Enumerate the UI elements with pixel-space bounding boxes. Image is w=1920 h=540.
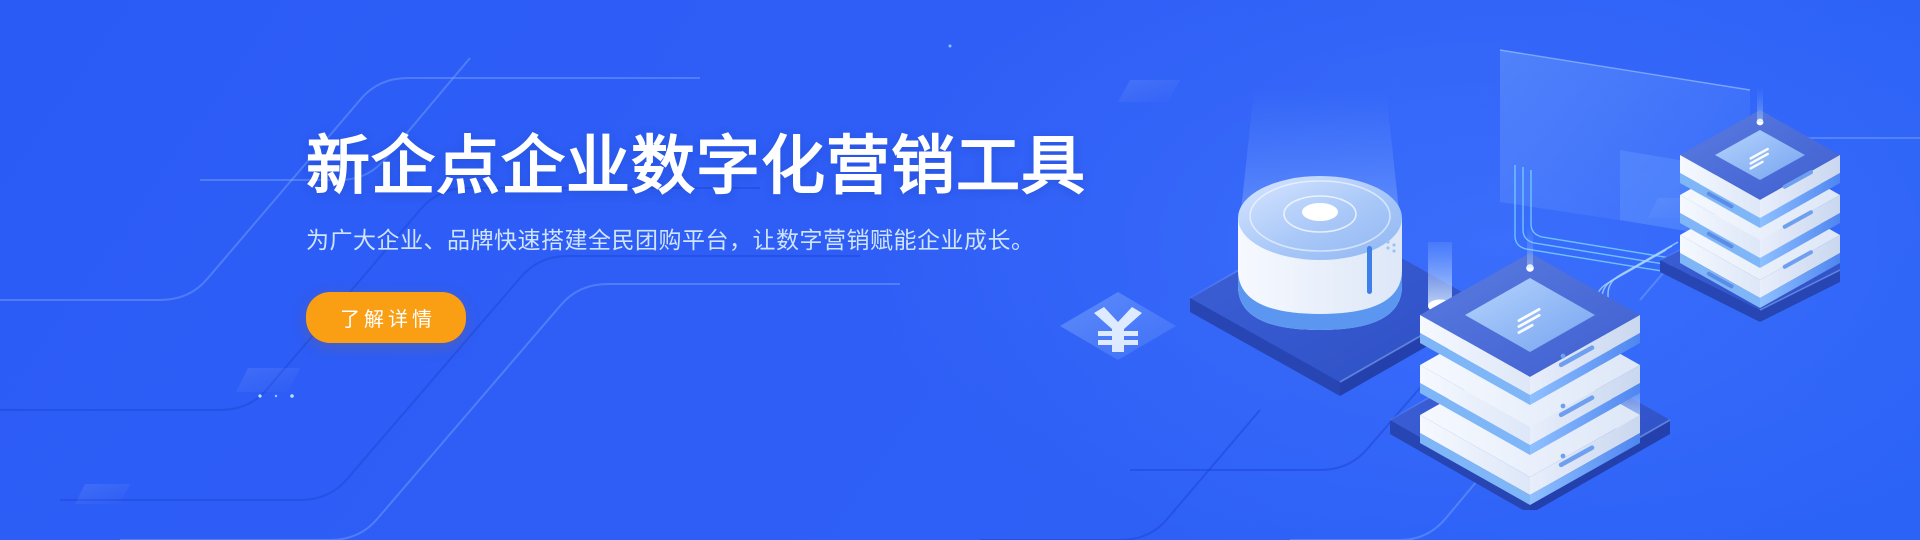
hero-subtitle: 为广大企业、品牌快速搭建全民团购平台，让数字营销赋能企业成长。 [306, 223, 1066, 258]
page-title: 新企点企业数字化营销工具 [306, 132, 1066, 201]
learn-more-button[interactable]: 了解详情 [306, 292, 466, 343]
hologram-projector-device [1238, 90, 1402, 330]
hero-content: 新企点企业数字化营销工具 为广大企业、品牌快速搭建全民团购平台，让数字营销赋能企… [306, 132, 1066, 343]
hero-banner: 新企点企业数字化营销工具 为广大企业、品牌快速搭建全民团购平台，让数字营销赋能企… [0, 0, 1920, 540]
cta-container: 了解详情 [306, 292, 1066, 343]
yen-currency-tile [1060, 292, 1176, 360]
isometric-illustration [1060, 30, 1840, 510]
